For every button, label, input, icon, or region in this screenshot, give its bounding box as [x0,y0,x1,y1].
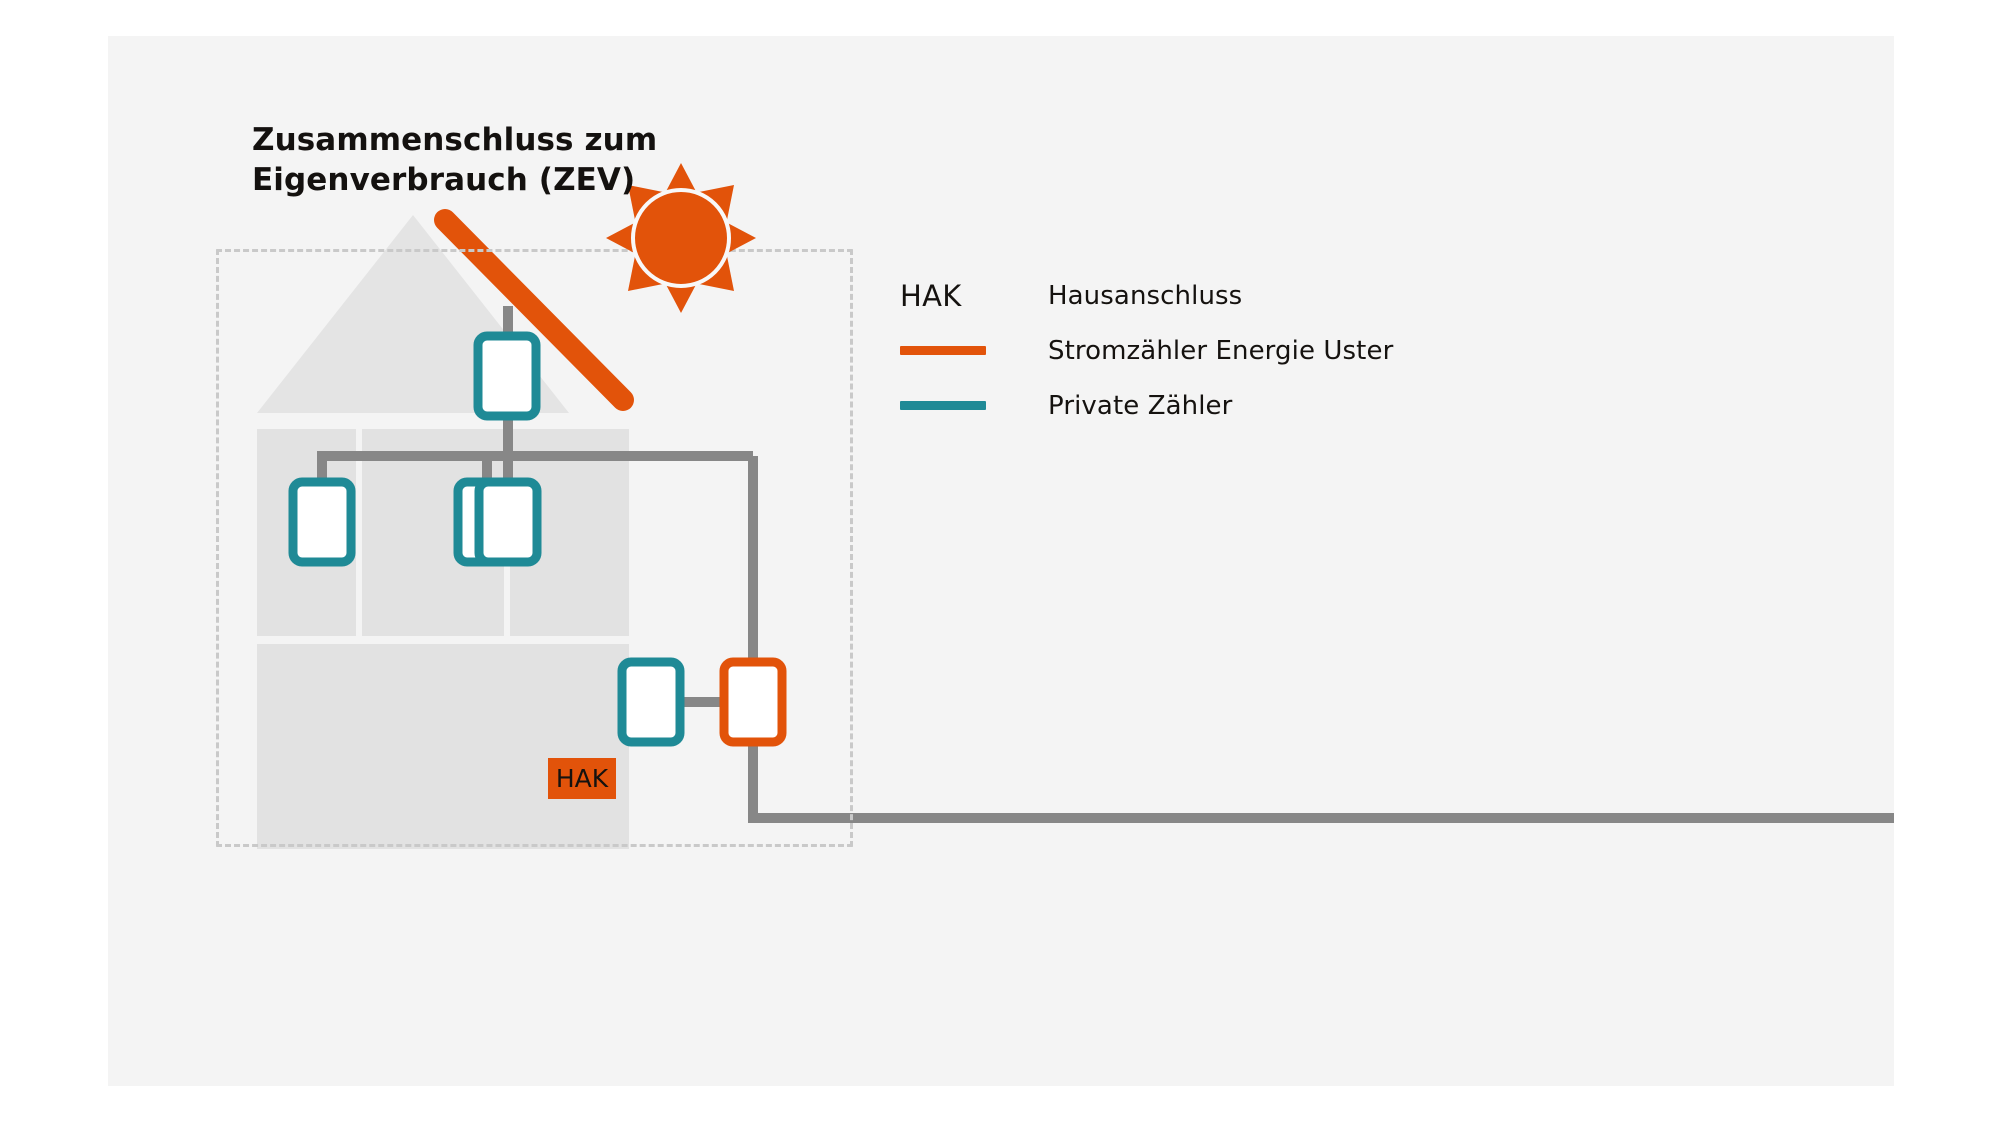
grid-supply-line [753,736,1894,818]
zev-boundary [216,249,853,847]
hak-label-text: HAK [556,766,608,791]
legend-swatch-teal [900,401,986,410]
legend-label-hausanschluss: Hausanschluss [1048,268,1242,323]
legend: HAK Hausanschluss Stromzähler Energie Us… [900,268,1460,433]
legend-swatch-orange [900,346,986,355]
legend-key-hak-text: HAK [900,279,962,313]
legend-label-private-zaehler: Private Zähler [1048,378,1232,433]
page-title: Zusammenschluss zum Eigenverbrauch (ZEV) [252,121,812,200]
legend-key-utility [900,323,1020,378]
legend-row-private-zaehler: Private Zähler [900,378,1460,433]
legend-row-stromzaehler-energie-uster: Stromzähler Energie Uster [900,323,1460,378]
legend-row-hausanschluss: HAK Hausanschluss [900,268,1460,323]
hak-label: HAK [548,758,616,799]
legend-key-private [900,378,1020,433]
diagram-stage: HAK Zusammenschluss zum Eigenverbrauch (… [0,0,2000,1125]
legend-key-hak: HAK [900,268,1020,323]
legend-label-stromzaehler-energie-uster: Stromzähler Energie Uster [1048,323,1393,378]
diagram-canvas: HAK Zusammenschluss zum Eigenverbrauch (… [108,36,1894,1086]
